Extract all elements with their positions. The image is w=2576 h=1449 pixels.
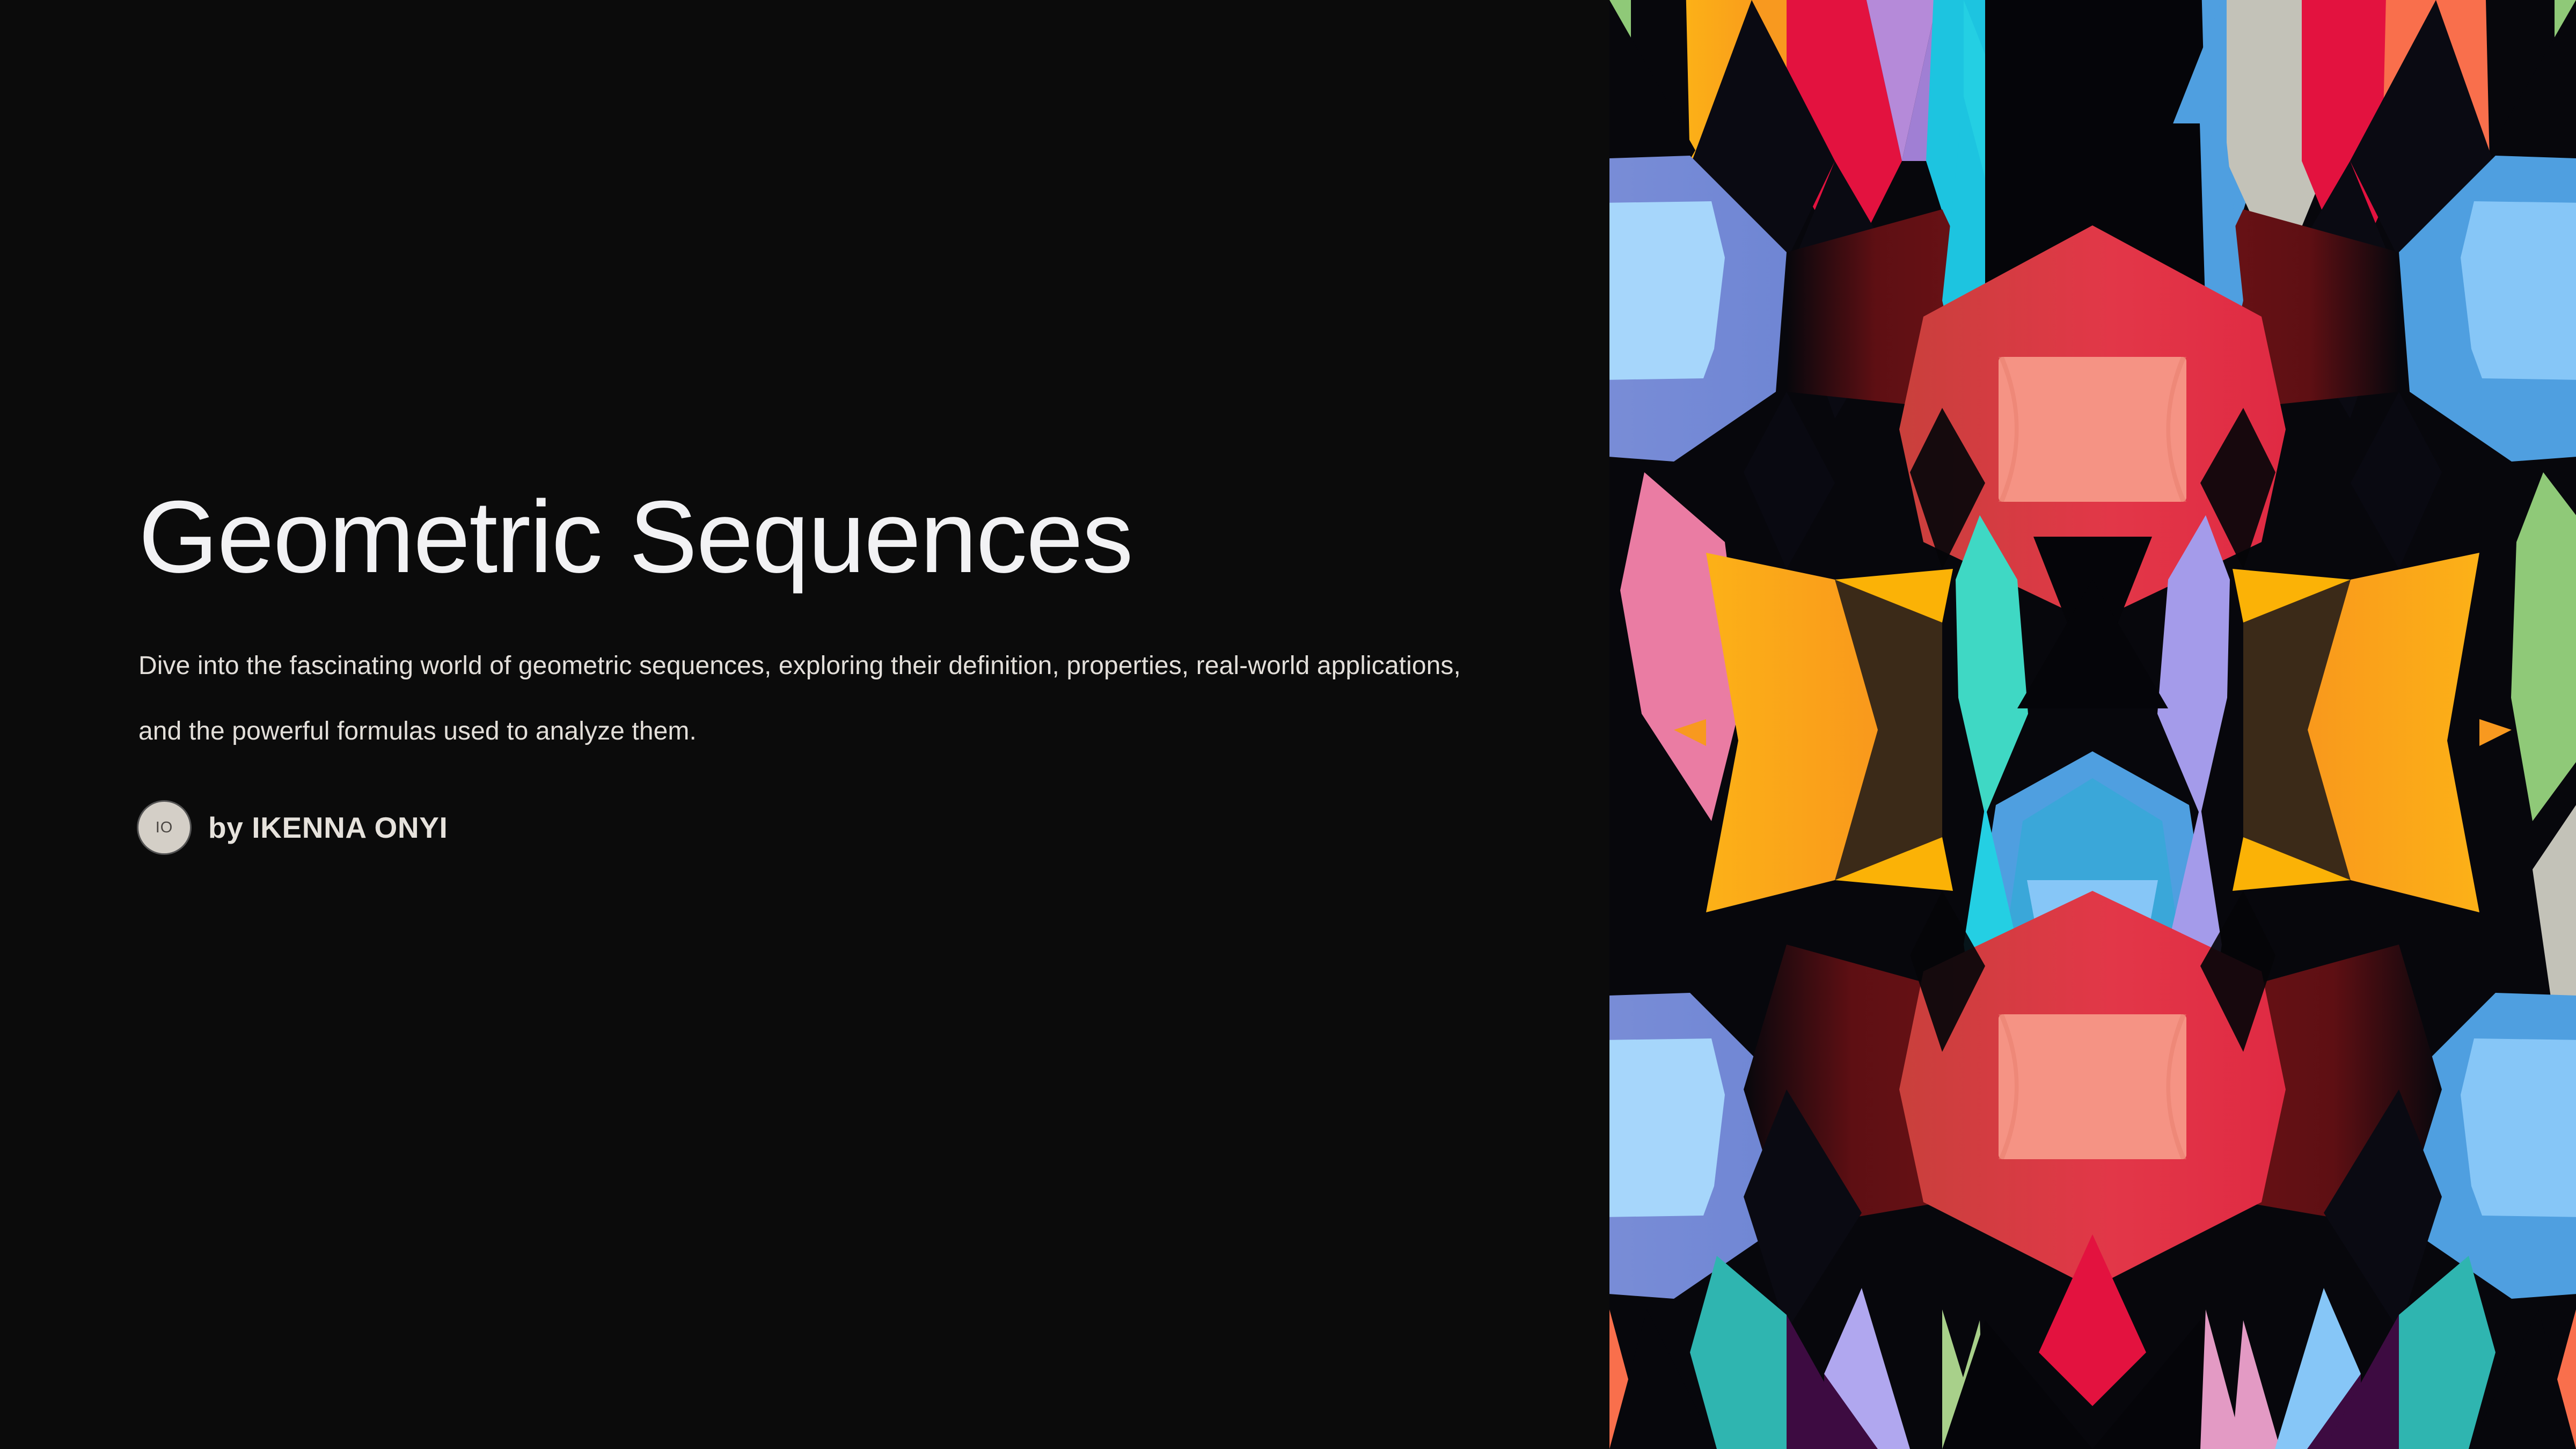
text-pane: Geometric Sequences Dive into the fascin…	[0, 0, 1609, 1449]
page-title: Geometric Sequences	[138, 483, 1480, 591]
avatar: IO	[138, 802, 190, 853]
kaleidoscope-geometric-pattern	[1609, 0, 2576, 1449]
decorative-image-pane	[1609, 0, 2576, 1449]
byline: IO by IKENNA ONYI	[138, 802, 1480, 853]
title-slide: Geometric Sequences Dive into the fascin…	[0, 0, 2576, 1449]
slide-subtitle: Dive into the fascinating world of geome…	[138, 633, 1467, 764]
avatar-initials: IO	[156, 819, 173, 837]
byline-text: by IKENNA ONYI	[208, 810, 448, 845]
title-block: Geometric Sequences Dive into the fascin…	[138, 483, 1480, 853]
